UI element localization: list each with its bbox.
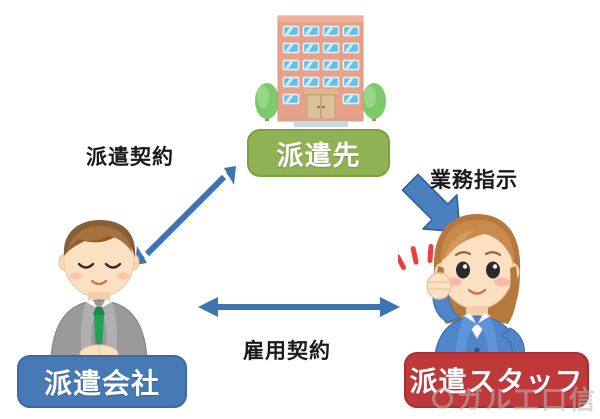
tree-left (255, 83, 279, 121)
woman-raising-fist-icon (398, 210, 550, 360)
dispatch-contract-label: 派遣契約 (86, 141, 174, 171)
work-instruction-label: 業務指示 (430, 164, 518, 194)
businessman-bowing-icon (38, 214, 162, 359)
tree-right (362, 83, 386, 121)
motion-lines (398, 244, 434, 271)
employment-contract-label: 雇用契約 (243, 335, 331, 365)
building-entrance (304, 89, 338, 121)
node-dispatch-company[interactable]: 派遣会社 (17, 355, 187, 408)
diagram-canvas: 派遣契約 業務指示 雇用契約 派遣先 派遣会社 派遣スタッフ ガル工口信 (0, 0, 600, 419)
double-headed-horizontal-arrow (196, 292, 402, 322)
node-dispatch-destination[interactable]: 派遣先 (247, 129, 390, 177)
office-building-icon (246, 5, 394, 131)
node-dispatch-staff[interactable]: 派遣スタッフ (404, 352, 589, 408)
